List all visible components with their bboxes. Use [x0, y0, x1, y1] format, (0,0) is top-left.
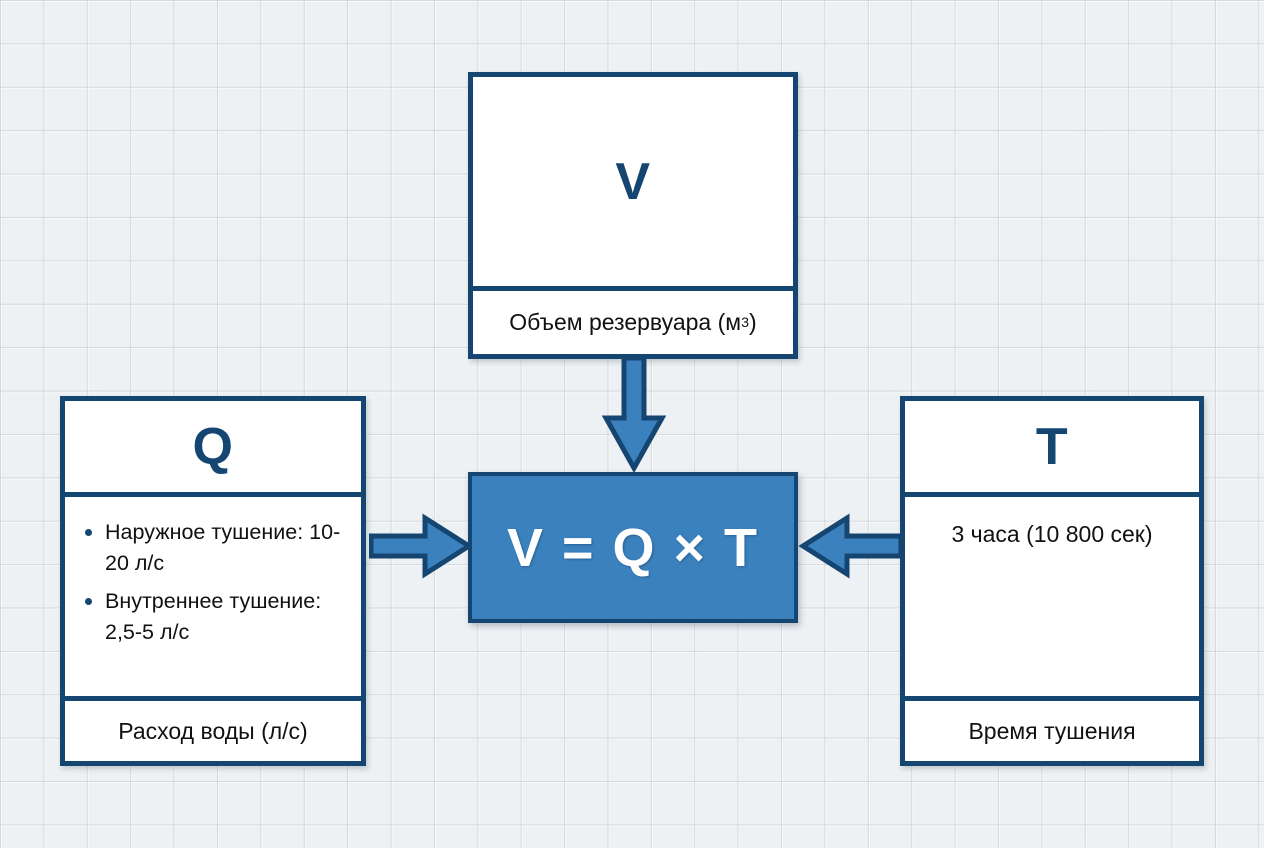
formula-box: V = Q × T	[468, 472, 798, 623]
flow-caption: Расход воды (л/с)	[65, 701, 361, 761]
time-symbol: T	[905, 401, 1199, 492]
time-node: T 3 часа (10 800 сек) Время тушения	[900, 396, 1204, 766]
formula-text: V = Q × T	[507, 517, 759, 579]
arrow-down-icon	[600, 356, 668, 478]
volume-caption-superscript: 3	[741, 315, 749, 331]
flow-bullet-list: Наружное тушение: 10-20 л/с Внутреннее т…	[79, 517, 347, 655]
flow-node: Q Наружное тушение: 10-20 л/с Внутреннее…	[60, 396, 366, 766]
arrow-right-icon	[369, 512, 473, 580]
arrow-left-icon	[797, 512, 903, 580]
volume-caption-text: Объем резервуара (м	[509, 309, 741, 336]
volume-caption-close: )	[749, 309, 757, 336]
volume-node: V Объем резервуара (м3)	[468, 72, 798, 359]
list-item: Наружное тушение: 10-20 л/с	[79, 517, 347, 579]
time-caption: Время тушения	[905, 701, 1199, 761]
time-body: 3 часа (10 800 сек)	[905, 497, 1199, 696]
time-value: 3 часа (10 800 сек)	[917, 519, 1187, 549]
volume-caption: Объем резервуара (м3)	[473, 291, 793, 354]
flow-symbol: Q	[65, 401, 361, 492]
volume-symbol: V	[473, 77, 793, 286]
list-item: Внутреннее тушение: 2,5-5 л/с	[79, 586, 347, 648]
flow-body: Наружное тушение: 10-20 л/с Внутреннее т…	[65, 497, 361, 696]
